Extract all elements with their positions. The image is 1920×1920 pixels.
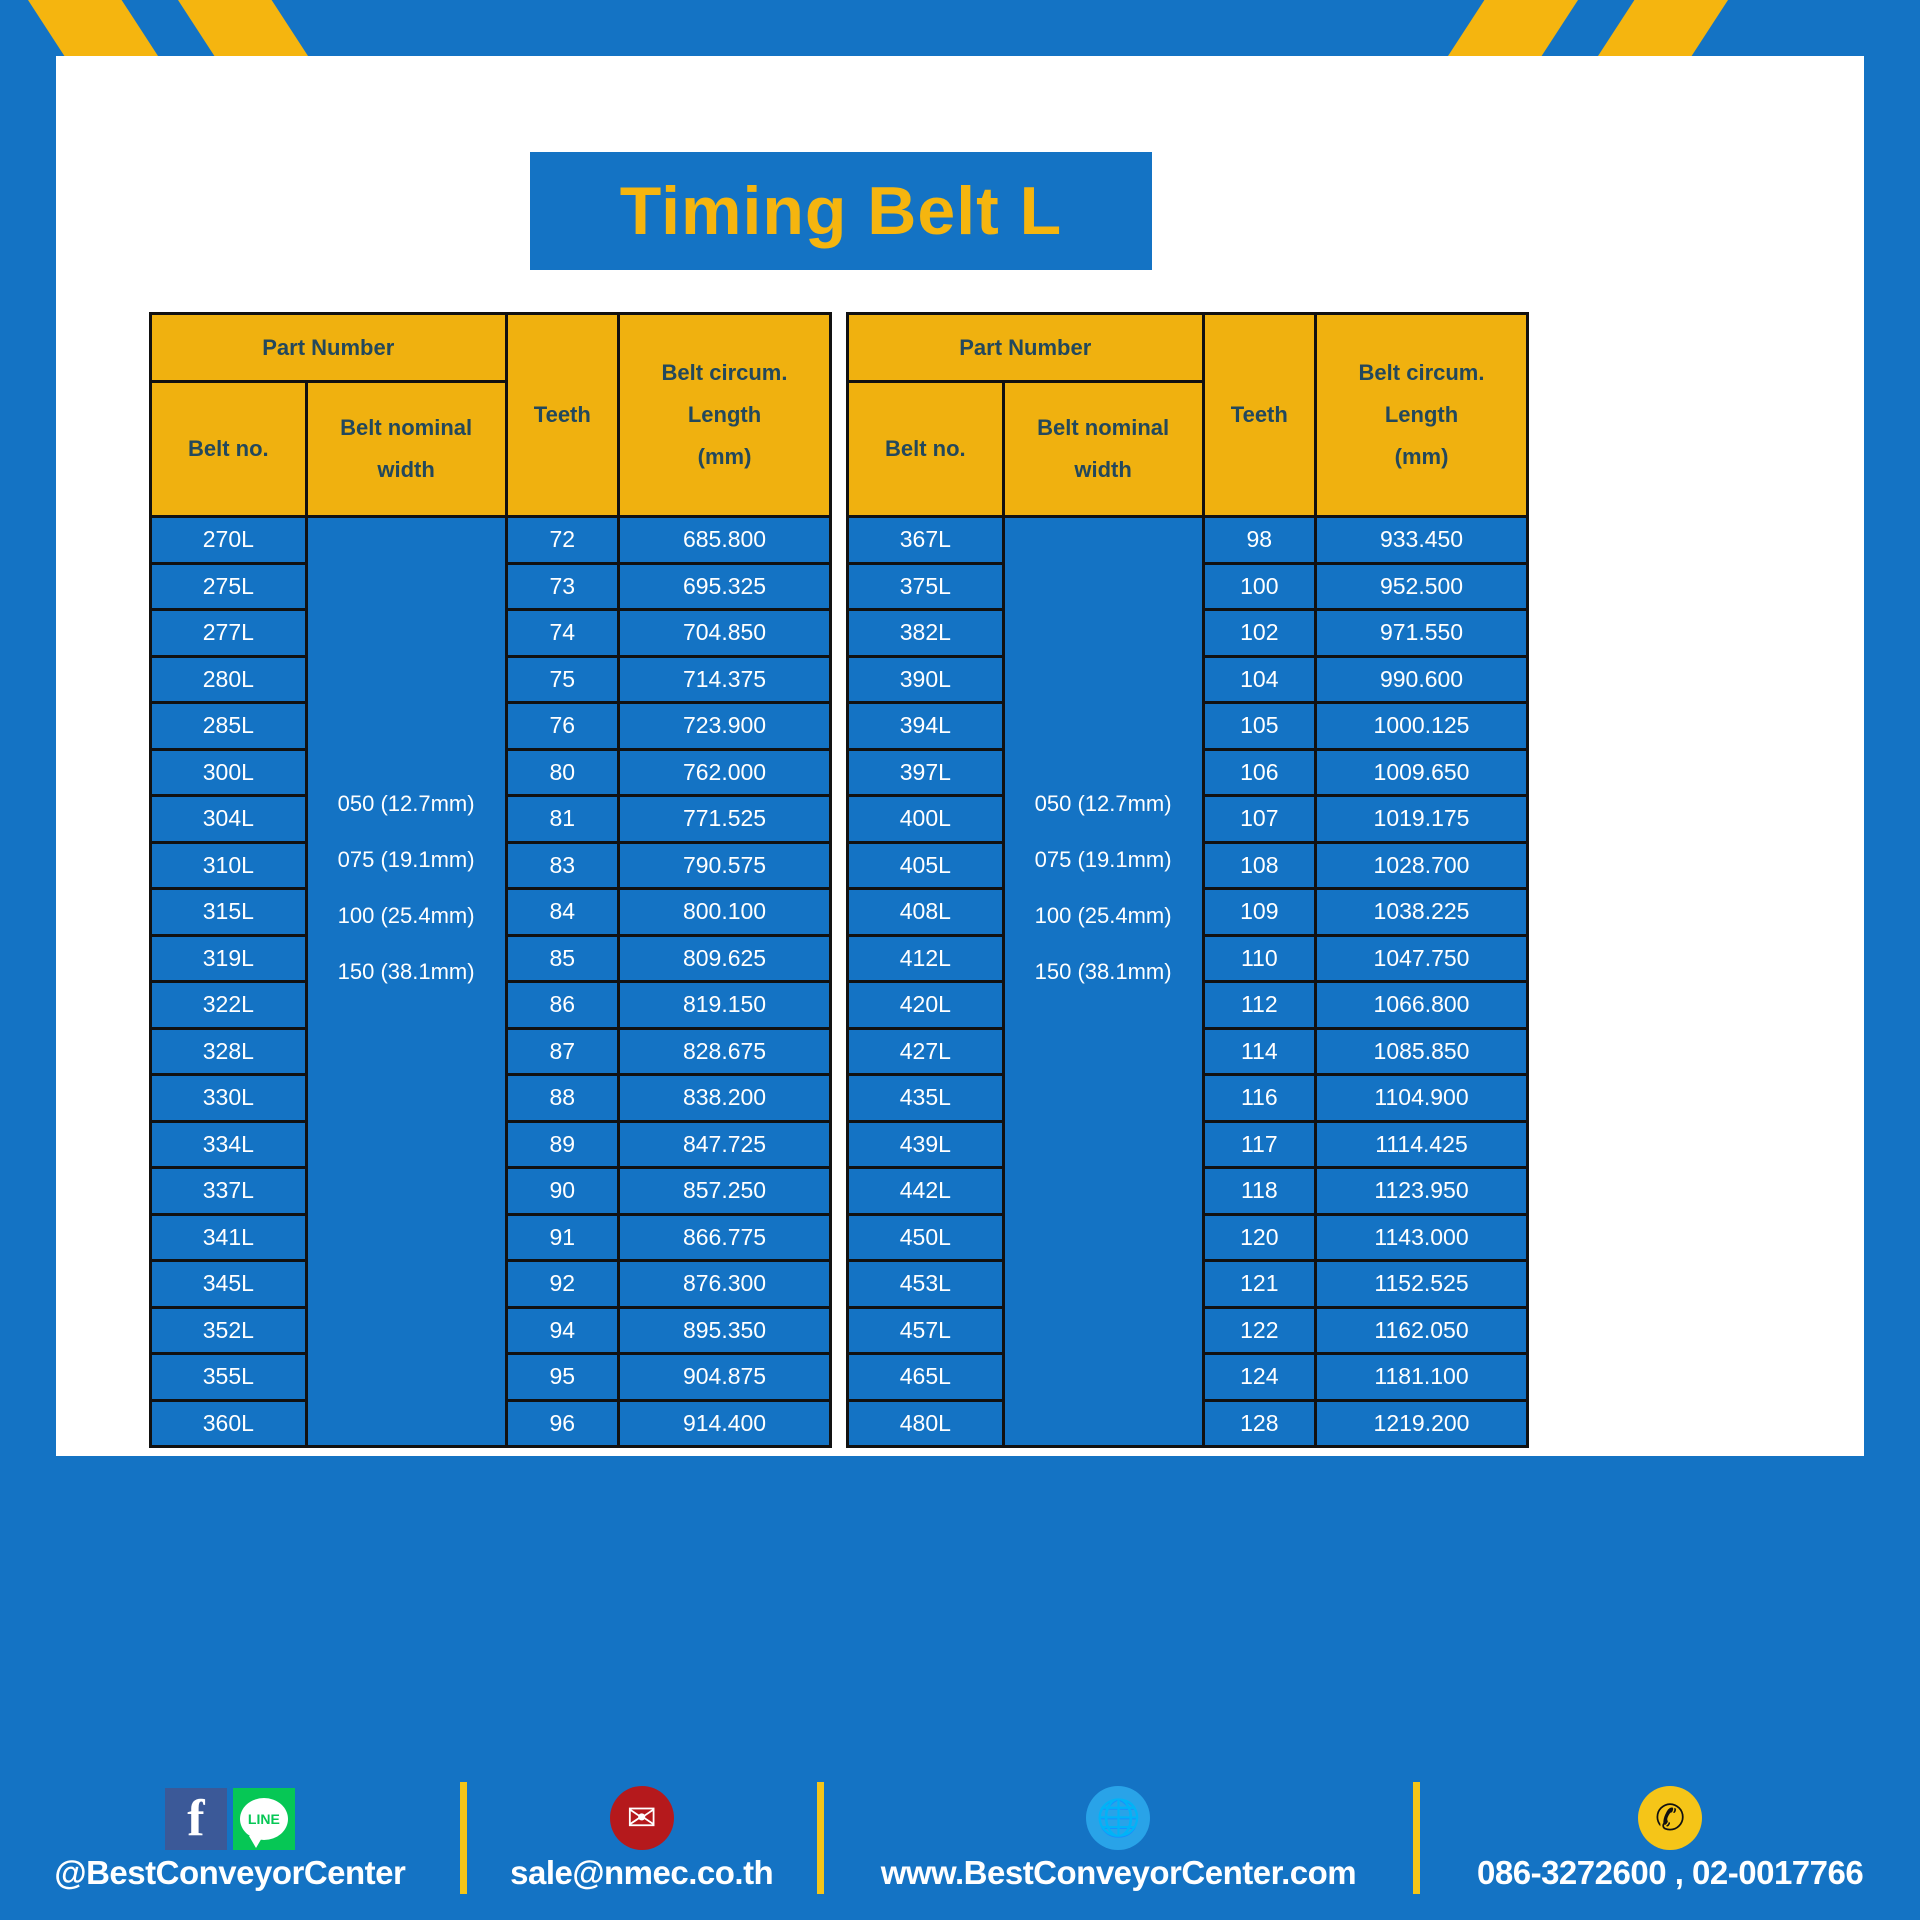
cell-belt-no: 394L xyxy=(848,703,1004,750)
cell-belt-length: 1181.100 xyxy=(1316,1354,1528,1401)
cell-belt-length: 895.350 xyxy=(619,1307,831,1354)
header-belt-circum-left: Belt circum. Length (mm) xyxy=(619,314,831,517)
globe-glyph: 🌐 xyxy=(1096,1800,1141,1836)
cell-belt-no: 480L xyxy=(848,1400,1004,1447)
cell-belt-length: 1066.800 xyxy=(1316,982,1528,1029)
phone-glyph: ✆ xyxy=(1655,1800,1685,1836)
cell-teeth: 112 xyxy=(1203,982,1315,1029)
footer-social-group[interactable]: f LINE @BestConveyorCenter xyxy=(0,1756,460,1920)
cell-teeth: 106 xyxy=(1203,749,1315,796)
cell-belt-length: 933.450 xyxy=(1316,517,1528,564)
belt-table-right: Part Number Teeth Belt circum. Length (m… xyxy=(846,312,1529,1448)
cell-teeth: 83 xyxy=(506,842,618,889)
header-belt-circum-line2: Length xyxy=(1317,394,1526,436)
table-row: 270L050 (12.7mm)075 (19.1mm)100 (25.4mm)… xyxy=(151,517,831,564)
cell-teeth: 85 xyxy=(506,935,618,982)
cell-belt-no: 465L xyxy=(848,1354,1004,1401)
cell-teeth: 90 xyxy=(506,1168,618,1215)
header-belt-circum-line2: Length xyxy=(620,394,829,436)
cell-teeth: 80 xyxy=(506,749,618,796)
cell-belt-no: 315L xyxy=(151,889,307,936)
email-label: sale@nmec.co.th xyxy=(510,1854,773,1892)
cell-belt-no: 341L xyxy=(151,1214,307,1261)
cell-teeth: 100 xyxy=(1203,563,1315,610)
cell-belt-nominal-width: 050 (12.7mm)075 (19.1mm)100 (25.4mm)150 … xyxy=(306,517,506,1447)
cell-belt-length: 685.800 xyxy=(619,517,831,564)
cell-teeth: 105 xyxy=(1203,703,1315,750)
cell-belt-length: 847.725 xyxy=(619,1121,831,1168)
line-icon[interactable]: LINE xyxy=(233,1788,295,1850)
cell-teeth: 81 xyxy=(506,796,618,843)
table-row: 367L050 (12.7mm)075 (19.1mm)100 (25.4mm)… xyxy=(848,517,1528,564)
cell-teeth: 91 xyxy=(506,1214,618,1261)
cell-belt-length: 1047.750 xyxy=(1316,935,1528,982)
cell-belt-length: 876.300 xyxy=(619,1261,831,1308)
cell-belt-length: 800.100 xyxy=(619,889,831,936)
cell-teeth: 89 xyxy=(506,1121,618,1168)
cell-belt-length: 1038.225 xyxy=(1316,889,1528,936)
cell-belt-length: 1152.525 xyxy=(1316,1261,1528,1308)
cell-teeth: 109 xyxy=(1203,889,1315,936)
cell-belt-length: 828.675 xyxy=(619,1028,831,1075)
cell-belt-no: 450L xyxy=(848,1214,1004,1261)
cell-teeth: 87 xyxy=(506,1028,618,1075)
envelope-glyph: ✉ xyxy=(627,1800,657,1836)
belt-width-option: 150 (38.1mm) xyxy=(1005,944,1202,1000)
cell-belt-no: 310L xyxy=(151,842,307,889)
cell-belt-length: 1219.200 xyxy=(1316,1400,1528,1447)
cell-teeth: 121 xyxy=(1203,1261,1315,1308)
belt-table-right-body: 367L050 (12.7mm)075 (19.1mm)100 (25.4mm)… xyxy=(848,517,1528,1447)
cell-teeth: 122 xyxy=(1203,1307,1315,1354)
cell-belt-length: 762.000 xyxy=(619,749,831,796)
header-belt-circum-line1: Belt circum. xyxy=(1317,352,1526,394)
chevron-decor-left-1 xyxy=(28,0,158,56)
cell-belt-no: 375L xyxy=(848,563,1004,610)
belt-table-left-body: 270L050 (12.7mm)075 (19.1mm)100 (25.4mm)… xyxy=(151,517,831,1447)
cell-belt-no: 322L xyxy=(151,982,307,1029)
header-belt-nominal-line1: Belt nominal xyxy=(308,407,505,449)
cell-belt-length: 1162.050 xyxy=(1316,1307,1528,1354)
cell-belt-length: 1104.900 xyxy=(1316,1075,1528,1122)
cell-teeth: 98 xyxy=(1203,517,1315,564)
cell-belt-no: 337L xyxy=(151,1168,307,1215)
envelope-icon[interactable]: ✉ xyxy=(610,1786,674,1850)
header-belt-circum-line3: (mm) xyxy=(1317,436,1526,478)
cell-belt-no: 367L xyxy=(848,517,1004,564)
cell-belt-no: 280L xyxy=(151,656,307,703)
cell-belt-length: 790.575 xyxy=(619,842,831,889)
chevron-decor-right-2 xyxy=(1598,0,1728,56)
globe-icon[interactable]: 🌐 xyxy=(1086,1786,1150,1850)
cell-belt-no: 442L xyxy=(848,1168,1004,1215)
cell-belt-no: 360L xyxy=(151,1400,307,1447)
cell-belt-no: 330L xyxy=(151,1075,307,1122)
belt-width-option: 075 (19.1mm) xyxy=(308,832,505,888)
cell-belt-no: 390L xyxy=(848,656,1004,703)
social-icons: f LINE xyxy=(165,1784,295,1850)
cell-belt-length: 904.875 xyxy=(619,1354,831,1401)
header-belt-nominal-line2: width xyxy=(1005,449,1202,491)
header-part-number-right: Part Number xyxy=(848,314,1204,382)
cell-belt-length: 1009.650 xyxy=(1316,749,1528,796)
website-label: www.BestConveyorCenter.com xyxy=(881,1854,1356,1892)
cell-belt-length: 1123.950 xyxy=(1316,1168,1528,1215)
belt-width-option: 150 (38.1mm) xyxy=(308,944,505,1000)
cell-teeth: 116 xyxy=(1203,1075,1315,1122)
table-header-row-1: Part Number Teeth Belt circum. Length (m… xyxy=(848,314,1528,382)
cell-belt-length: 771.525 xyxy=(619,796,831,843)
cell-belt-no: 408L xyxy=(848,889,1004,936)
cell-belt-no: 270L xyxy=(151,517,307,564)
header-belt-circum-line3: (mm) xyxy=(620,436,829,478)
header-belt-no-right: Belt no. xyxy=(848,382,1004,517)
cell-belt-length: 819.150 xyxy=(619,982,831,1029)
page-title-band: Timing Belt L xyxy=(530,152,1152,270)
contact-footer: f LINE @BestConveyorCenter ✉ sale@nmec.c… xyxy=(0,1756,1920,1920)
cell-teeth: 84 xyxy=(506,889,618,936)
header-belt-nominal-line1: Belt nominal xyxy=(1005,407,1202,449)
cell-belt-length: 857.250 xyxy=(619,1168,831,1215)
cell-belt-no: 400L xyxy=(848,796,1004,843)
header-teeth-right: Teeth xyxy=(1203,314,1315,517)
cell-belt-length: 914.400 xyxy=(619,1400,831,1447)
line-icon-label: LINE xyxy=(240,1798,288,1840)
cell-belt-length: 809.625 xyxy=(619,935,831,982)
facebook-handle-label: @BestConveyorCenter xyxy=(54,1854,405,1892)
cell-teeth: 92 xyxy=(506,1261,618,1308)
cell-belt-no: 304L xyxy=(151,796,307,843)
cell-belt-no: 412L xyxy=(848,935,1004,982)
cell-teeth: 117 xyxy=(1203,1121,1315,1168)
cell-teeth: 128 xyxy=(1203,1400,1315,1447)
cell-belt-length: 1085.850 xyxy=(1316,1028,1528,1075)
belt-width-option: 050 (12.7mm) xyxy=(1005,776,1202,832)
top-chevron-decoration xyxy=(0,0,1920,56)
page-title: Timing Belt L xyxy=(620,177,1062,245)
cell-belt-no: 355L xyxy=(151,1354,307,1401)
cell-belt-length: 714.375 xyxy=(619,656,831,703)
phone-label: 086-3272600 , 02-0017766 xyxy=(1477,1854,1863,1892)
cell-teeth: 110 xyxy=(1203,935,1315,982)
cell-teeth: 107 xyxy=(1203,796,1315,843)
header-belt-nominal-width-left: Belt nominal width xyxy=(306,382,506,517)
cell-belt-nominal-width: 050 (12.7mm)075 (19.1mm)100 (25.4mm)150 … xyxy=(1003,517,1203,1447)
cell-belt-length: 952.500 xyxy=(1316,563,1528,610)
cell-belt-no: 285L xyxy=(151,703,307,750)
cell-teeth: 114 xyxy=(1203,1028,1315,1075)
table-header-row-1: Part Number Teeth Belt circum. Length (m… xyxy=(151,314,831,382)
cell-belt-no: 397L xyxy=(848,749,1004,796)
cell-belt-length: 971.550 xyxy=(1316,610,1528,657)
phone-icon[interactable]: ✆ xyxy=(1638,1786,1702,1850)
cell-belt-length: 1000.125 xyxy=(1316,703,1528,750)
belt-width-option: 075 (19.1mm) xyxy=(1005,832,1202,888)
cell-belt-no: 328L xyxy=(151,1028,307,1075)
email-icon-wrap: ✉ xyxy=(610,1784,674,1850)
phone-icon-wrap: ✆ xyxy=(1638,1784,1702,1850)
cell-belt-length: 1019.175 xyxy=(1316,796,1528,843)
cell-teeth: 104 xyxy=(1203,656,1315,703)
cell-teeth: 124 xyxy=(1203,1354,1315,1401)
cell-belt-length: 1028.700 xyxy=(1316,842,1528,889)
cell-belt-length: 1143.000 xyxy=(1316,1214,1528,1261)
cell-teeth: 73 xyxy=(506,563,618,610)
footer-divider-1 xyxy=(460,1782,467,1894)
cell-belt-no: 457L xyxy=(848,1307,1004,1354)
cell-teeth: 75 xyxy=(506,656,618,703)
cell-teeth: 86 xyxy=(506,982,618,1029)
chevron-decor-left-2 xyxy=(178,0,308,56)
content-card: Timing Belt L Part Number Teeth Belt cir… xyxy=(56,56,1864,1456)
facebook-icon[interactable]: f xyxy=(165,1788,227,1850)
header-belt-circum-line1: Belt circum. xyxy=(620,352,829,394)
belt-tables-container: Part Number Teeth Belt circum. Length (m… xyxy=(149,312,1529,1448)
cell-belt-no: 345L xyxy=(151,1261,307,1308)
cell-belt-no: 427L xyxy=(848,1028,1004,1075)
cell-teeth: 76 xyxy=(506,703,618,750)
header-belt-nominal-line2: width xyxy=(308,449,505,491)
cell-belt-length: 838.200 xyxy=(619,1075,831,1122)
cell-teeth: 95 xyxy=(506,1354,618,1401)
footer-phone-group[interactable]: ✆ 086-3272600 , 02-0017766 xyxy=(1420,1756,1920,1920)
cell-teeth: 118 xyxy=(1203,1168,1315,1215)
cell-belt-no: 277L xyxy=(151,610,307,657)
cell-teeth: 120 xyxy=(1203,1214,1315,1261)
cell-belt-length: 723.900 xyxy=(619,703,831,750)
belt-table-left: Part Number Teeth Belt circum. Length (m… xyxy=(149,312,832,1448)
cell-belt-length: 704.850 xyxy=(619,610,831,657)
cell-belt-no: 275L xyxy=(151,563,307,610)
belt-width-option: 100 (25.4mm) xyxy=(1005,888,1202,944)
footer-divider-2 xyxy=(817,1782,824,1894)
cell-teeth: 94 xyxy=(506,1307,618,1354)
footer-email-group[interactable]: ✉ sale@nmec.co.th xyxy=(467,1756,817,1920)
globe-icon-wrap: 🌐 xyxy=(1086,1784,1150,1850)
cell-belt-no: 435L xyxy=(848,1075,1004,1122)
header-part-number-left: Part Number xyxy=(151,314,507,382)
header-belt-no-left: Belt no. xyxy=(151,382,307,517)
cell-teeth: 96 xyxy=(506,1400,618,1447)
cell-belt-no: 300L xyxy=(151,749,307,796)
cell-belt-no: 382L xyxy=(848,610,1004,657)
cell-belt-no: 420L xyxy=(848,982,1004,1029)
cell-teeth: 102 xyxy=(1203,610,1315,657)
cell-teeth: 74 xyxy=(506,610,618,657)
cell-belt-length: 1114.425 xyxy=(1316,1121,1528,1168)
header-belt-circum-right: Belt circum. Length (mm) xyxy=(1316,314,1528,517)
belt-width-option: 100 (25.4mm) xyxy=(308,888,505,944)
cell-belt-length: 990.600 xyxy=(1316,656,1528,703)
header-belt-nominal-width-right: Belt nominal width xyxy=(1003,382,1203,517)
cell-belt-no: 334L xyxy=(151,1121,307,1168)
cell-belt-no: 319L xyxy=(151,935,307,982)
cell-belt-length: 695.325 xyxy=(619,563,831,610)
cell-belt-no: 453L xyxy=(848,1261,1004,1308)
footer-website-group[interactable]: 🌐 www.BestConveyorCenter.com xyxy=(824,1756,1414,1920)
cell-belt-no: 405L xyxy=(848,842,1004,889)
cell-belt-no: 352L xyxy=(151,1307,307,1354)
cell-teeth: 72 xyxy=(506,517,618,564)
cell-teeth: 108 xyxy=(1203,842,1315,889)
cell-teeth: 88 xyxy=(506,1075,618,1122)
cell-belt-length: 866.775 xyxy=(619,1214,831,1261)
header-teeth-left: Teeth xyxy=(506,314,618,517)
chevron-decor-right-1 xyxy=(1448,0,1578,56)
belt-width-option: 050 (12.7mm) xyxy=(308,776,505,832)
cell-belt-no: 439L xyxy=(848,1121,1004,1168)
footer-divider-3 xyxy=(1413,1782,1420,1894)
